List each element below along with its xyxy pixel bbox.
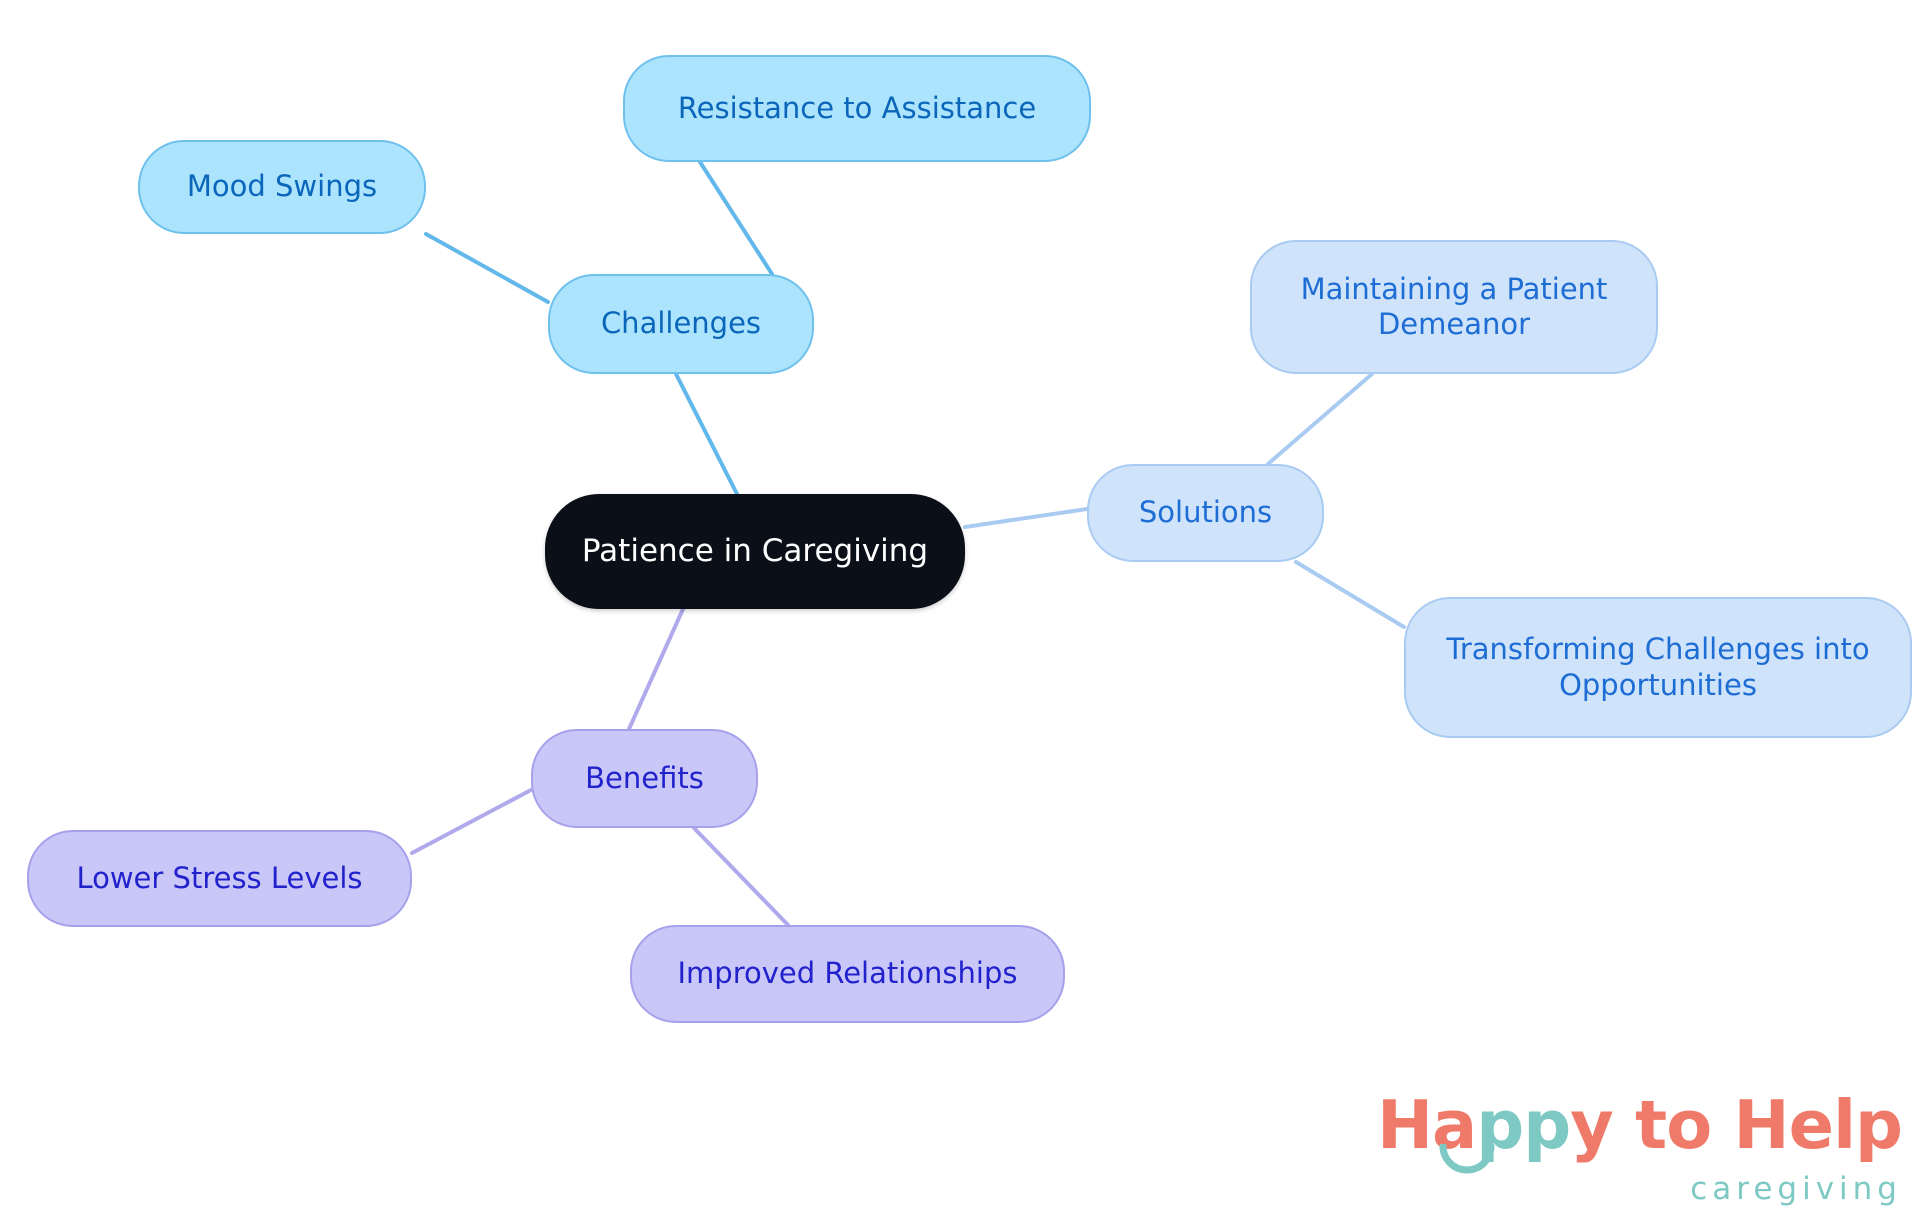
node-solutions[interactable]: Solutions — [1087, 464, 1324, 562]
logo-wordmark: Happy to Help — [1377, 1092, 1902, 1159]
node-mood-swings[interactable]: Mood Swings — [138, 140, 426, 234]
node-maintaining-a-patient-demeanor[interactable]: Maintaining a Patient Demeanor — [1250, 240, 1658, 374]
edge-challenges-to-mood-swings — [426, 234, 548, 302]
node-benefits[interactable]: Benefits — [531, 729, 758, 828]
edge-root-to-solutions — [965, 509, 1087, 527]
edge-benefits-to-improved-relationships — [694, 828, 788, 925]
logo-subtitle: caregiving — [1377, 1171, 1902, 1207]
logo-text-part3: y to Help — [1570, 1086, 1902, 1164]
node-improved-relationships[interactable]: Improved Relationships — [630, 925, 1065, 1023]
node-transforming-challenges-into-opportunities[interactable]: Transforming Challenges into Opportuniti… — [1404, 597, 1912, 738]
node-lower-stress-levels[interactable]: Lower Stress Levels — [27, 830, 412, 927]
edge-solutions-to-transforming-challenges-into-opportunities — [1296, 562, 1404, 627]
node-resistance-to-assistance[interactable]: Resistance to Assistance — [623, 55, 1091, 162]
node-root-patience-in-caregiving[interactable]: Patience in Caregiving — [545, 494, 965, 609]
mindmap-canvas: Patience in Caregiving Challenges Mood S… — [0, 0, 1920, 1215]
edge-root-to-benefits — [629, 609, 683, 729]
node-challenges[interactable]: Challenges — [548, 274, 814, 374]
edge-challenges-to-resistance-to-assistance — [700, 162, 772, 274]
edge-benefits-to-lower-stress-levels — [412, 790, 531, 853]
smile-icon — [1439, 1144, 1495, 1174]
edge-root-to-challenges — [676, 374, 737, 494]
brand-logo: Happy to Help caregiving — [1377, 1092, 1902, 1207]
edge-solutions-to-maintaining-a-patient-demeanor — [1268, 374, 1372, 464]
